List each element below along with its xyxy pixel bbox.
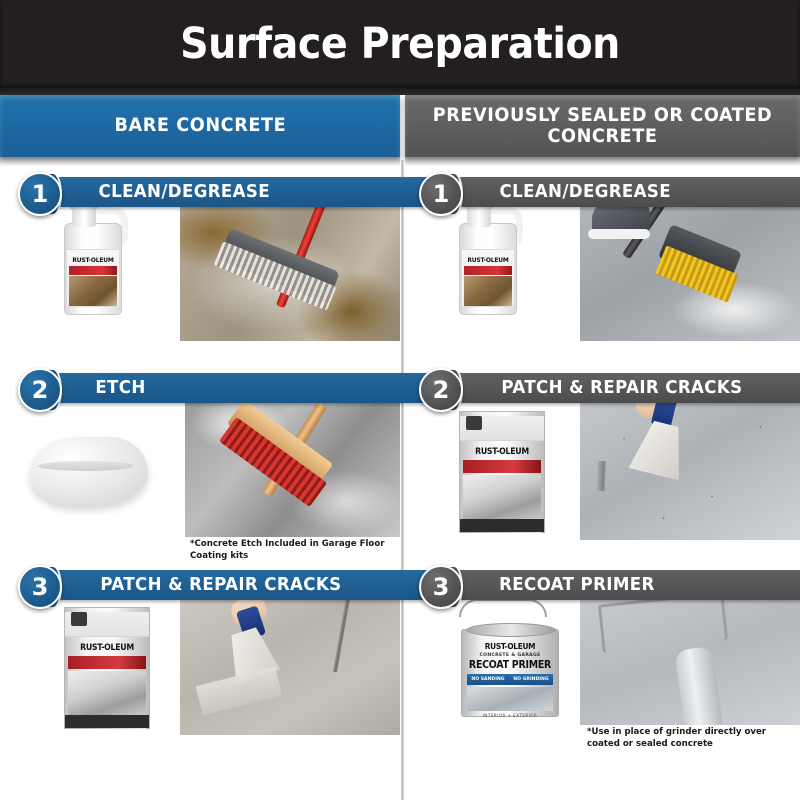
etch-bag-body: [30, 437, 148, 505]
concrete-crack: [580, 461, 800, 491]
patch-bag-brand: RUST-OLEUM: [463, 447, 540, 457]
shoe-sole: [588, 229, 650, 239]
patch-bag-body: RUST-OLEUM: [459, 411, 545, 533]
column-header-shadow-right: [405, 157, 800, 167]
product-etch-bag: [18, 407, 163, 517]
step-banner-bare-3-label: PATCH & REPAIR CRACKS: [100, 575, 341, 595]
step-badge-bare-1-number: 1: [32, 180, 49, 208]
step-badge-bare-2-number: 2: [32, 376, 49, 404]
can-photo: [467, 687, 553, 711]
step-banner-bare-3: PATCH & REPAIR CRACKS: [44, 570, 450, 600]
photo-scrub-brush-on-stained-concrete: [180, 197, 400, 341]
etch-bag-fold: [38, 461, 134, 471]
concrete-crack: [290, 590, 400, 672]
step-badge-bare-3-number: 3: [32, 573, 49, 601]
title-bar: Surface Preparation: [0, 0, 800, 88]
patch-bag-seal-icon: [71, 612, 87, 626]
step-badge-bare-3: 3: [18, 565, 62, 609]
photo-red-push-broom-etching: [185, 395, 400, 537]
jug-label-brand: RUST-OLEUM: [68, 257, 117, 264]
photo-paint-roller-on-concrete: [580, 590, 800, 725]
column-header-previously-sealed-label: PREVIOUSLY SEALED OR COATED CONCRETE: [419, 105, 786, 148]
photo-yellow-deck-brush: [580, 197, 800, 341]
step-badge-sealed-1-number: 1: [433, 180, 450, 208]
step-banner-bare-2: ETCH: [44, 373, 450, 403]
product-patch-bag-sealed-2: RUST-OLEUM: [453, 403, 553, 538]
product-rustoleum-jug-sealed-1: RUST-OLEUM: [453, 197, 523, 323]
patch-bag-brand: RUST-OLEUM: [68, 643, 145, 653]
photo-putty-knife-speckled-concrete: [580, 395, 800, 540]
step-badge-sealed-2-number: 2: [433, 376, 450, 404]
column-header-bare-concrete: BARE CONCRETE: [0, 95, 400, 157]
patch-bag-red-banner: [463, 460, 541, 473]
step-banner-sealed-1-label: CLEAN/DEGREASE: [500, 182, 671, 202]
patch-bag-seal-icon: [466, 416, 482, 430]
jug-label-photo: [69, 276, 117, 306]
can-footer: INTERIOR + EXTERIOR: [462, 713, 558, 718]
step-banner-sealed-1: CLEAN/DEGREASE: [445, 177, 800, 207]
jug-label: RUST-OLEUM: [461, 249, 515, 307]
column-divider: [401, 160, 404, 800]
roller-cover: [674, 646, 724, 725]
patch-bag-red-banner: [68, 656, 146, 669]
jug-label-brand: RUST-OLEUM: [463, 257, 512, 264]
can-claims-banner: NO SANDING NO GRINDING: [467, 674, 553, 685]
can-claim-right: NO GRINDING: [513, 677, 548, 682]
step-banner-sealed-3-label: RECOAT PRIMER: [499, 575, 655, 595]
note-sealed-3: *Use in place of grinder directly over c…: [587, 727, 799, 750]
roller-frame: [598, 592, 728, 654]
patch-bag-bottom-band: [460, 519, 544, 532]
step-badge-sealed-3: 3: [419, 565, 463, 609]
can-rim: [466, 623, 556, 637]
column-header-previously-sealed: PREVIOUSLY SEALED OR COATED CONCRETE: [405, 95, 800, 157]
can-brand: RUST-OLEUM: [466, 642, 554, 651]
jug-label-photo: [464, 276, 512, 306]
step-banner-bare-1-label: CLEAN/DEGREASE: [99, 182, 270, 202]
page-title: Surface Preparation: [180, 19, 620, 69]
can-handle: [459, 599, 547, 617]
title-underglow: [0, 88, 800, 95]
patch-bag-bottom-band: [65, 715, 149, 728]
step-badge-sealed-3-number: 3: [433, 573, 450, 601]
product-rustoleum-jug-bare-1: RUST-OLEUM: [58, 197, 128, 323]
product-recoat-primer-can: RUST-OLEUM CONCRETE & GARAGE RECOAT PRIM…: [453, 615, 565, 725]
can-product-name: RECOAT PRIMER: [467, 659, 553, 671]
step-banner-sealed-3: RECOAT PRIMER: [445, 570, 800, 600]
step-badge-bare-2: 2: [18, 368, 62, 412]
column-header-shadow-left: [0, 157, 400, 167]
can-claim-left: NO SANDING: [471, 677, 504, 682]
jug-label-red-banner: [69, 266, 117, 275]
column-header-bare-concrete-label: BARE CONCRETE: [114, 115, 286, 136]
step-badge-sealed-2: 2: [419, 368, 463, 412]
jug-label: RUST-OLEUM: [66, 249, 120, 307]
step-banner-bare-2-label: ETCH: [95, 378, 145, 398]
photo-putty-knife-filling-crack: [180, 590, 400, 735]
patch-bag-top: [65, 612, 149, 637]
step-banner-bare-1: CLEAN/DEGREASE: [44, 177, 450, 207]
step-banner-sealed-2: PATCH & REPAIR CRACKS: [445, 373, 800, 403]
product-patch-bag-bare-3: RUST-OLEUM: [58, 599, 158, 734]
step-badge-sealed-1: 1: [419, 172, 463, 216]
can-category: CONCRETE & GARAGE: [462, 653, 558, 658]
jug-label-red-banner: [464, 266, 512, 275]
step-badge-bare-1: 1: [18, 172, 62, 216]
can-body: RUST-OLEUM CONCRETE & GARAGE RECOAT PRIM…: [461, 629, 559, 717]
note-bare-2: *Concrete Etch Included in Garage Floor …: [190, 539, 400, 562]
patch-bag-body: RUST-OLEUM: [64, 607, 150, 729]
patch-bag-top: [460, 416, 544, 441]
step-banner-sealed-2-label: PATCH & REPAIR CRACKS: [501, 378, 742, 398]
